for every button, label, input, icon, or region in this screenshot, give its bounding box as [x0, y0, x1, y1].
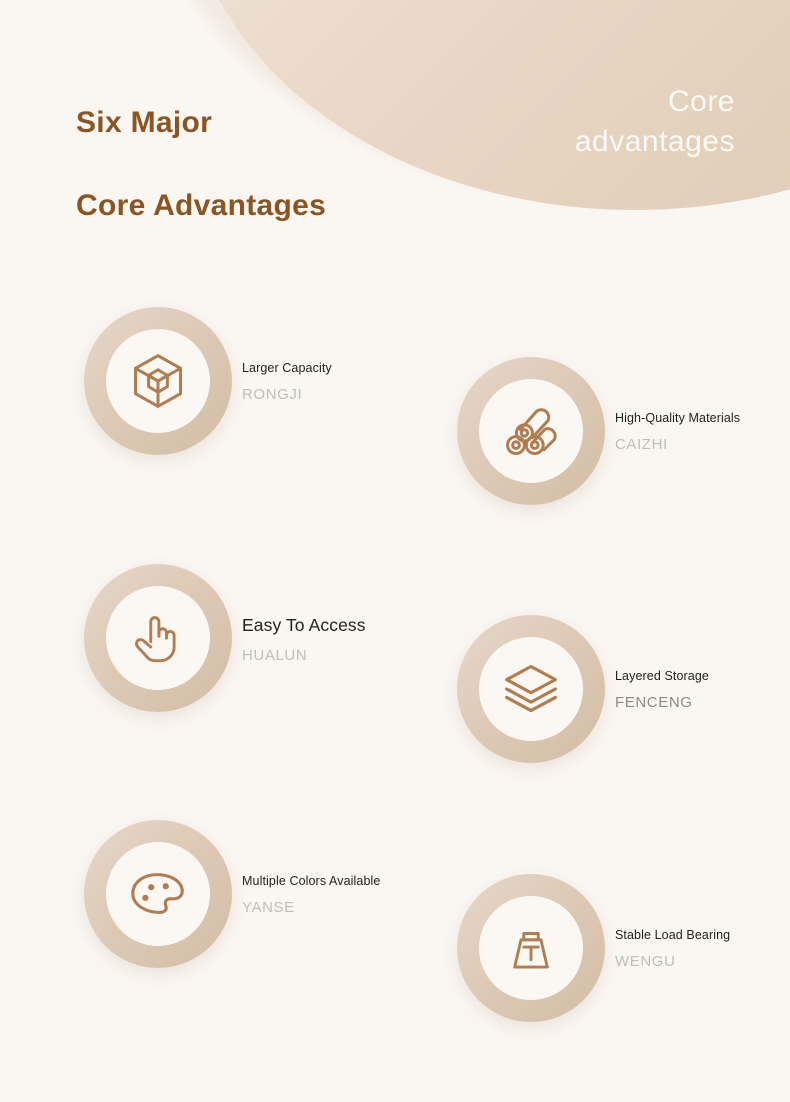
feature-subtitle: YANSE	[242, 899, 380, 916]
feature-icon-disc	[106, 329, 210, 433]
feature-icon-disc	[479, 896, 583, 1000]
feature-subtitle: RONGJI	[242, 386, 332, 403]
feature-text-block: Easy To Access HUALUN	[242, 613, 366, 664]
feature-subtitle: CAIZHI	[615, 436, 740, 453]
feature-title: Stable Load Bearing	[615, 928, 730, 942]
feature-icon-ring	[84, 564, 232, 712]
feature-icon-ring	[457, 357, 605, 505]
feature-title: High-Quality Materials	[615, 411, 740, 425]
feature-icon-disc	[106, 586, 210, 690]
feature-item-easy-to-access[interactable]: Easy To Access HUALUN	[84, 564, 366, 712]
feature-text-block: Multiple Colors Available YANSE	[242, 872, 380, 916]
stacked-logs-icon	[501, 401, 561, 461]
feature-item-larger-capacity[interactable]: Larger Capacity RONGJI	[84, 307, 332, 455]
feature-title: Multiple Colors Available	[242, 874, 380, 888]
feature-icon-disc	[479, 379, 583, 483]
feature-icon-ring	[84, 307, 232, 455]
feature-item-layered-storage[interactable]: Layered Storage FENCENG	[457, 615, 709, 763]
feature-icon-ring	[457, 615, 605, 763]
feature-text-block: Stable Load Bearing WENGU	[615, 926, 730, 970]
feature-text-block: Layered Storage FENCENG	[615, 667, 709, 711]
cube-box-icon	[128, 351, 188, 411]
feature-title: Easy To Access	[242, 615, 366, 636]
feature-title: Larger Capacity	[242, 361, 332, 375]
feature-icon-ring	[84, 820, 232, 968]
paint-palette-icon	[127, 863, 189, 925]
feature-title: Layered Storage	[615, 669, 709, 683]
feature-subtitle: WENGU	[615, 953, 730, 970]
feature-icon-disc	[106, 842, 210, 946]
pointing-hand-icon	[129, 609, 187, 667]
layers-stack-icon	[501, 659, 561, 719]
feature-item-high-quality-materials[interactable]: High-Quality Materials CAIZHI	[457, 357, 740, 505]
feature-grid: Larger Capacity RONGJI	[0, 0, 790, 1102]
feature-text-block: Larger Capacity RONGJI	[242, 359, 332, 403]
feature-item-stable-load-bearing[interactable]: Stable Load Bearing WENGU	[457, 874, 730, 1022]
feature-subtitle: FENCENG	[615, 694, 709, 711]
feature-text-block: High-Quality Materials CAIZHI	[615, 409, 740, 453]
feature-item-multiple-colors-available[interactable]: Multiple Colors Available YANSE	[84, 820, 380, 968]
feature-subtitle: HUALUN	[242, 647, 366, 664]
feature-icon-disc	[479, 637, 583, 741]
weight-icon	[502, 919, 560, 977]
feature-icon-ring	[457, 874, 605, 1022]
